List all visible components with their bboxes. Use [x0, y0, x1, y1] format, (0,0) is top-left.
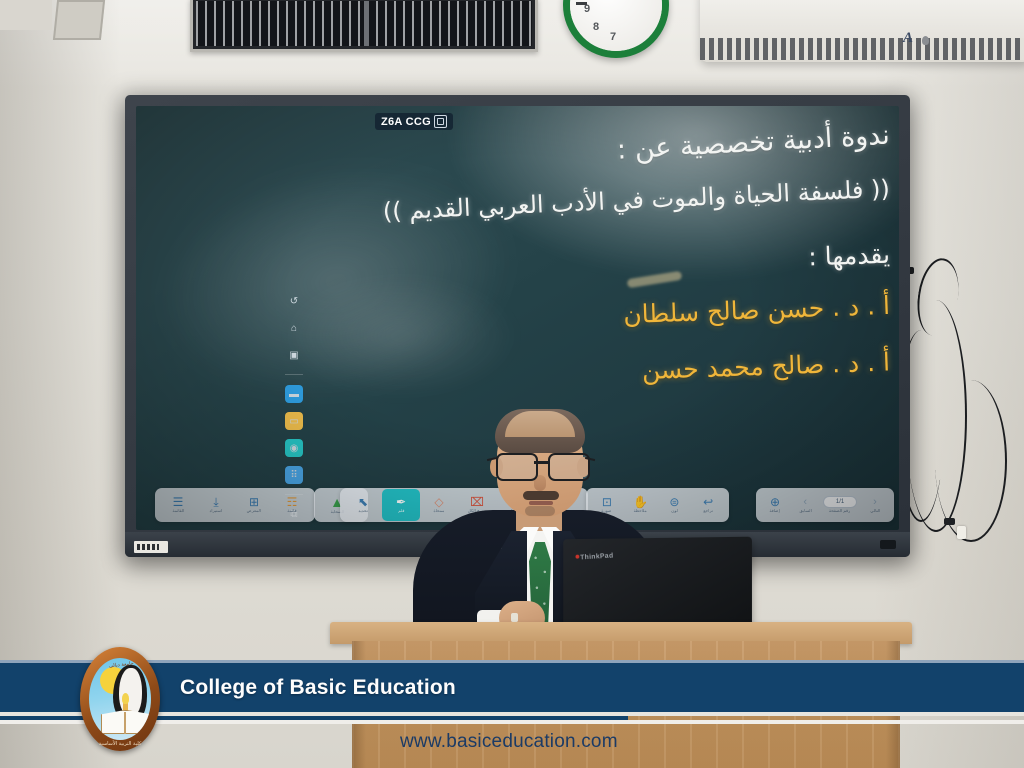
clock-tick — [576, 2, 587, 5]
laptop-lid[interactable]: ThinkPad — [563, 537, 752, 634]
logo-inner-field: جامعة ديالى — [89, 658, 151, 740]
laptop-logo-dot-icon — [576, 555, 580, 559]
eyeglass-lens-right — [548, 453, 590, 481]
moustache — [523, 491, 559, 500]
clock-number-8: 8 — [593, 21, 599, 33]
cable-clip — [944, 518, 955, 525]
display-ir-sensor — [880, 540, 896, 549]
screen-cast-icon — [434, 115, 447, 128]
chin-beard — [525, 506, 555, 516]
laptop-brand-label: ThinkPad — [580, 552, 614, 561]
input-source-label: Z6A CCG — [381, 116, 431, 128]
eyeglass-lens-left — [496, 453, 538, 481]
display-model-label — [134, 541, 168, 553]
eyeglasses — [493, 453, 588, 478]
banner-title: College of Basic Education — [180, 676, 456, 700]
banner-gradient — [640, 663, 1024, 712]
ac-grille — [700, 38, 1024, 60]
ceiling-panel — [0, 0, 52, 30]
cable-plug — [957, 526, 966, 539]
ceiling-air-vent-icon — [190, 0, 538, 52]
open-book-icon — [101, 710, 151, 734]
flame-icon — [122, 693, 129, 704]
wall-marking-smudge — [922, 36, 929, 45]
mouth — [529, 501, 553, 505]
banner-url: www.basiceducation.com — [400, 731, 618, 753]
wall-marking-letter: A — [903, 30, 913, 47]
screenshot-root: 9 8 7 A ↺ ⌂ ▣ ▬ ▭ ◉ ⠿ ⧉ ✎ — [0, 0, 1024, 768]
college-of-basic-education-logo: جامعة ديالى كلية التربية الأساسية — [80, 647, 160, 751]
air-conditioner-unit — [700, 0, 1024, 62]
input-source-badge: Z6A CCG — [375, 113, 453, 130]
book-spine — [124, 712, 126, 734]
ceiling-bracket — [53, 0, 105, 40]
eyeglass-bridge — [534, 461, 548, 464]
clock-number-7: 7 — [610, 31, 616, 43]
finger-ring — [511, 613, 518, 622]
clock-number-9: 9 — [584, 3, 590, 15]
vent-divider — [364, 1, 369, 46]
logo-arabic-bottom-text: كلية التربية الأساسية — [92, 741, 148, 747]
